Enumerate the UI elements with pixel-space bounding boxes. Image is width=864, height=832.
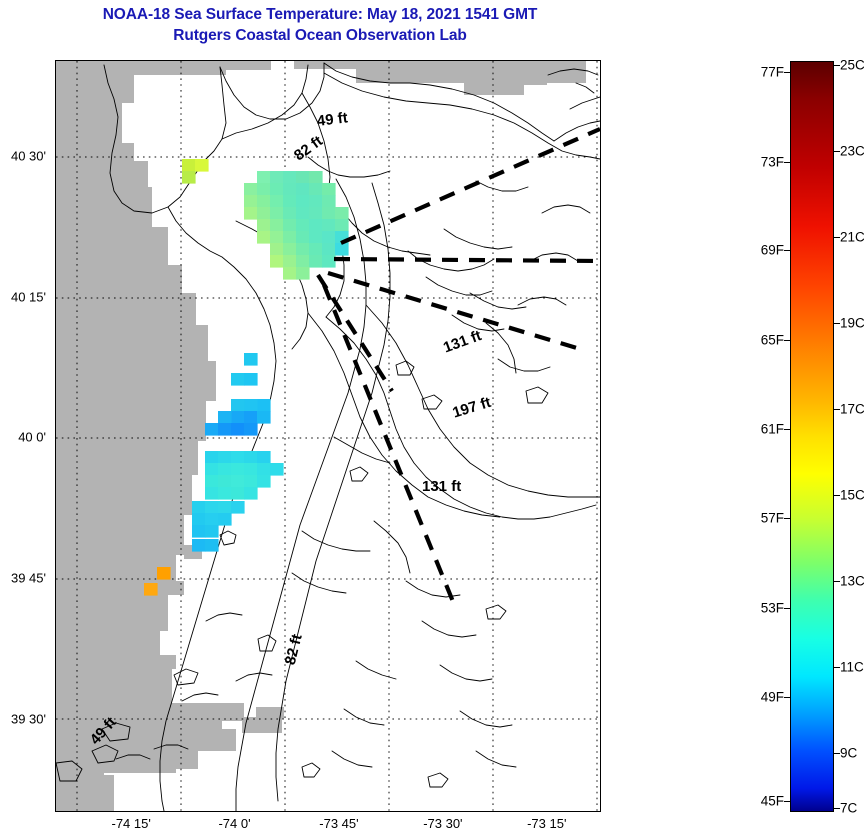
depth-contour-label: 131 ft <box>422 478 461 495</box>
sst-cell <box>205 525 219 538</box>
sst-cell <box>182 171 196 184</box>
colorbar-label-celsius: 21C <box>840 229 864 244</box>
sst-cell <box>205 513 219 526</box>
colorbar-tick-c <box>833 581 840 582</box>
x-axis-label: -74 15' <box>111 816 150 831</box>
sst-cell <box>218 475 232 488</box>
title-line-1: NOAA-18 Sea Surface Temperature: May 18,… <box>0 4 640 25</box>
colorbar-tick-f <box>784 250 791 251</box>
x-axis-label: -74 0' <box>218 816 250 831</box>
sst-cell <box>192 513 206 526</box>
colorbar-tick-f <box>784 429 791 430</box>
sst-cell <box>296 207 310 220</box>
sst-cell <box>205 451 219 464</box>
sst-cell <box>257 399 271 412</box>
sst-cell <box>218 451 232 464</box>
sst-cell <box>283 243 297 256</box>
y-axis-label: 39 30' <box>0 711 46 726</box>
colorbar-label-fahrenheit: 57F <box>761 511 784 526</box>
x-axis-label: -73 45' <box>319 816 358 831</box>
sst-cell <box>244 399 258 412</box>
sst-cell <box>144 583 158 596</box>
colorbar-label-celsius: 23C <box>840 144 864 159</box>
sst-cell <box>192 525 206 538</box>
colorbar-label-fahrenheit: 73F <box>761 154 784 169</box>
sst-cell <box>257 171 271 184</box>
sst-cell <box>244 195 258 208</box>
sst-cell <box>218 501 232 514</box>
y-axis-label: 40 15' <box>0 290 46 305</box>
map-canvas <box>56 61 600 811</box>
sst-cell <box>205 475 219 488</box>
sst-cell <box>283 183 297 196</box>
sst-cell <box>270 255 284 268</box>
sst-cell <box>244 207 258 220</box>
sst-cell <box>231 487 245 500</box>
sst-cell <box>257 219 271 232</box>
sst-cell <box>296 183 310 196</box>
colorbar-tick-c <box>833 237 840 238</box>
sst-cell <box>309 171 323 184</box>
sst-cell <box>244 353 258 366</box>
sst-cell <box>244 487 258 500</box>
colorbar-tick-f <box>784 162 791 163</box>
sst-cell <box>231 423 245 436</box>
sst-map-panel[interactable]: 49 ft82 ft131 ft197 ft131 ft82 ft49 ft <box>55 60 601 812</box>
sst-cell <box>322 219 336 232</box>
sst-cell <box>335 243 349 256</box>
sst-cell <box>322 183 336 196</box>
sst-cell <box>157 567 171 580</box>
x-axis-label: -73 30' <box>423 816 462 831</box>
colorbar-tick-c <box>833 323 840 324</box>
colorbar-tick-c <box>833 65 840 66</box>
sst-cell <box>270 207 284 220</box>
sst-cell <box>270 463 284 476</box>
sst-cell <box>192 501 206 514</box>
sst-cell <box>231 451 245 464</box>
sst-cell <box>270 243 284 256</box>
colorbar-tick-c <box>833 151 840 152</box>
colorbar-gradient <box>790 61 834 812</box>
colorbar-tick-c <box>833 753 840 754</box>
sst-cell <box>182 159 196 172</box>
sst-cell <box>283 267 297 280</box>
sst-cell <box>218 411 232 424</box>
sst-cell <box>257 207 271 220</box>
y-axis-label: 40 30' <box>0 149 46 164</box>
temperature-colorbar[interactable]: 77F73F69F65F61F57F53F49F45F25C23C21C19C1… <box>790 61 834 812</box>
sst-cell <box>195 159 209 172</box>
sst-cell <box>270 231 284 244</box>
sst-cell <box>283 171 297 184</box>
sst-cell <box>244 423 258 436</box>
sst-cell <box>309 231 323 244</box>
colorbar-label-fahrenheit: 65F <box>761 332 784 347</box>
sst-cell <box>309 183 323 196</box>
sst-cell <box>257 475 271 488</box>
sst-cell <box>244 451 258 464</box>
colorbar-label-celsius: 11C <box>840 660 864 675</box>
colorbar-tick-c <box>833 667 840 668</box>
sst-cell <box>322 255 336 268</box>
sst-cell <box>283 195 297 208</box>
y-axis-label: 39 45' <box>0 570 46 585</box>
sst-cell <box>257 411 271 424</box>
sst-cell <box>322 231 336 244</box>
sst-cell <box>335 219 349 232</box>
sst-cell <box>309 219 323 232</box>
sst-cell <box>218 423 232 436</box>
colorbar-label-fahrenheit: 77F <box>761 65 784 80</box>
sst-cell <box>205 539 219 552</box>
y-axis-label: 40 0' <box>0 430 46 445</box>
sst-cell <box>244 411 258 424</box>
sst-cell <box>335 207 349 220</box>
colorbar-tick-c <box>833 495 840 496</box>
sst-cell <box>296 231 310 244</box>
colorbar-tick-f <box>784 608 791 609</box>
colorbar-label-fahrenheit: 61F <box>761 421 784 436</box>
sst-cell <box>218 513 232 526</box>
sst-cell <box>244 373 258 386</box>
sst-cell <box>192 539 206 552</box>
sst-cell <box>283 207 297 220</box>
colorbar-tick-f <box>784 697 791 698</box>
sst-cell <box>231 475 245 488</box>
colorbar-label-celsius: 9C <box>840 745 857 760</box>
sst-cell <box>322 207 336 220</box>
sst-cell <box>244 183 258 196</box>
colorbar-tick-f <box>784 340 791 341</box>
sst-cell <box>231 501 245 514</box>
colorbar-label-celsius: 7C <box>840 801 857 816</box>
sst-cell <box>244 463 258 476</box>
colorbar-tick-c <box>833 808 840 809</box>
sst-cell <box>231 411 245 424</box>
sst-cell <box>231 399 245 412</box>
sst-cell <box>257 463 271 476</box>
colorbar-tick-f <box>784 518 791 519</box>
sst-cell <box>296 195 310 208</box>
x-axis-label: -73 15' <box>527 816 566 831</box>
sst-cell <box>231 463 245 476</box>
sst-cell <box>270 183 284 196</box>
sst-cell <box>283 255 297 268</box>
sst-cell <box>257 195 271 208</box>
colorbar-label-fahrenheit: 53F <box>761 600 784 615</box>
sst-cell <box>205 423 219 436</box>
colorbar-label-celsius: 19C <box>840 316 864 331</box>
sst-cell <box>296 219 310 232</box>
title-line-2: Rutgers Coastal Ocean Observation Lab <box>0 25 640 46</box>
sst-cell <box>257 183 271 196</box>
sst-cell <box>205 487 219 500</box>
sst-cell <box>218 487 232 500</box>
sst-cell <box>309 255 323 268</box>
sst-cell <box>257 231 271 244</box>
sst-cell <box>296 171 310 184</box>
sst-cell <box>205 463 219 476</box>
sst-cell <box>296 243 310 256</box>
colorbar-label-fahrenheit: 49F <box>761 690 784 705</box>
sst-cell <box>309 195 323 208</box>
sst-cell <box>322 243 336 256</box>
colorbar-label-celsius: 25C <box>840 57 864 72</box>
sst-cell <box>244 475 258 488</box>
sst-cell <box>218 463 232 476</box>
colorbar-label-celsius: 17C <box>840 401 864 416</box>
sst-cell <box>257 451 271 464</box>
colorbar-tick-c <box>833 409 840 410</box>
colorbar-label-fahrenheit: 45F <box>761 793 784 808</box>
sst-cell <box>283 219 297 232</box>
sst-cell <box>231 373 245 386</box>
colorbar-tick-f <box>784 72 791 73</box>
sst-cell <box>270 219 284 232</box>
sst-cell <box>283 231 297 244</box>
sst-cell <box>309 207 323 220</box>
colorbar-label-celsius: 13C <box>840 573 864 588</box>
sst-cell <box>296 255 310 268</box>
sst-cell <box>296 267 310 280</box>
colorbar-tick-f <box>784 801 791 802</box>
sst-cell <box>205 501 219 514</box>
chart-title: NOAA-18 Sea Surface Temperature: May 18,… <box>0 4 640 46</box>
sst-cell <box>322 195 336 208</box>
sst-cell <box>309 243 323 256</box>
colorbar-label-celsius: 15C <box>840 488 864 503</box>
colorbar-label-fahrenheit: 69F <box>761 243 784 258</box>
sst-cell <box>270 195 284 208</box>
sst-cell <box>270 171 284 184</box>
